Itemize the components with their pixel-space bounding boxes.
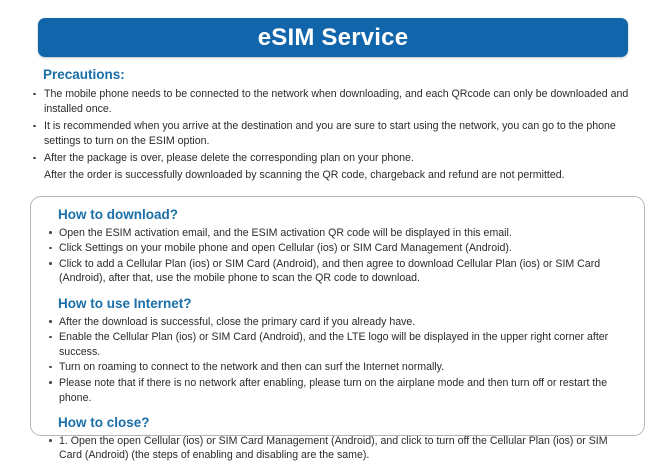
guide-panel-content: How to download?Open the ESIM activation… — [31, 197, 644, 475]
precautions-heading: Precautions: — [43, 66, 653, 84]
precautions-list: The mobile phone needs to be connected t… — [28, 87, 653, 183]
list-item: Click to add a Cellular Plan (ios) or SI… — [45, 257, 630, 286]
guide-section-heading: How to use Internet? — [58, 295, 630, 313]
list-item: The mobile phone needs to be connected t… — [28, 87, 653, 117]
guide-section-list: Open the ESIM activation email, and the … — [45, 226, 630, 286]
guide-section-heading: How to download? — [58, 206, 630, 224]
list-item: Turn on roaming to connect to the networ… — [45, 360, 630, 375]
guide-section-heading: How to close? — [58, 414, 630, 432]
page-title: eSIM Service — [258, 26, 409, 50]
guide-panel: How to download?Open the ESIM activation… — [30, 196, 645, 436]
list-item: It is recommended when you arrive at the… — [28, 119, 653, 149]
list-item: 1. Open the open Cellular (ios) or SIM C… — [45, 434, 630, 463]
list-item: Open the ESIM activation email, and the … — [45, 226, 630, 241]
guide-section-list: 1. Open the open Cellular (ios) or SIM C… — [45, 434, 630, 463]
list-item: Enable the Cellular Plan (ios) or SIM Ca… — [45, 330, 630, 359]
list-item: After the download is successful, close … — [45, 315, 630, 330]
list-item: Click Settings on your mobile phone and … — [45, 241, 630, 256]
list-item: Please note that if there is no network … — [45, 376, 630, 405]
precautions-section: Precautions: The mobile phone needs to b… — [28, 66, 653, 185]
page-title-banner: eSIM Service — [38, 18, 628, 57]
guide-section-list: After the download is successful, close … — [45, 315, 630, 406]
guide-section: How to close?1. Open the open Cellular (… — [45, 414, 630, 463]
list-item: After the package is over, please delete… — [28, 151, 653, 166]
guide-section: How to use Internet?After the download i… — [45, 295, 630, 405]
guide-section: How to download?Open the ESIM activation… — [45, 206, 630, 286]
list-item-note: After the order is successfully download… — [28, 168, 653, 183]
